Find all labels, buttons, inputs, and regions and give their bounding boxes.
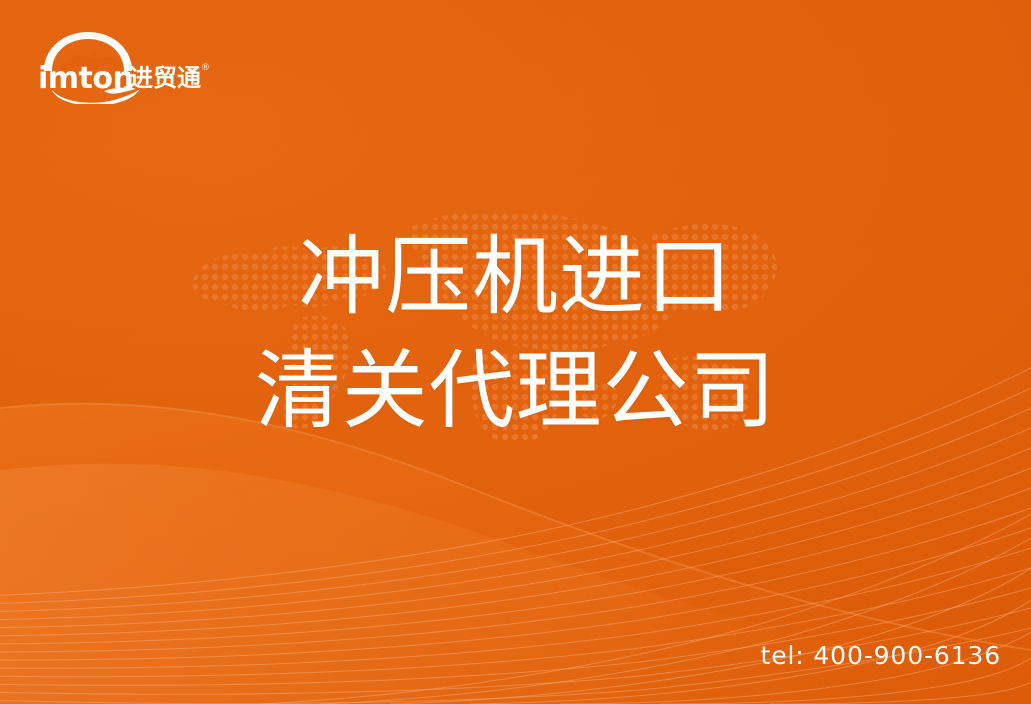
- headline-line-1: 冲压机进口: [0, 228, 1031, 328]
- registered-mark-icon: ®: [201, 63, 210, 73]
- headline-line-2: 清关代理公司: [0, 342, 1031, 442]
- contact-telephone[interactable]: tel: 400-900-6136: [761, 641, 1001, 670]
- headline: 冲压机进口 清关代理公司: [0, 228, 1031, 442]
- brand-logo[interactable]: imton 进贸通 ®: [36, 26, 212, 104]
- promo-banner: imton 进贸通 ® 冲压机进口 清关代理公司 tel: 400-900-61…: [0, 0, 1031, 704]
- logo-chinese-name: 进贸通: [129, 64, 201, 92]
